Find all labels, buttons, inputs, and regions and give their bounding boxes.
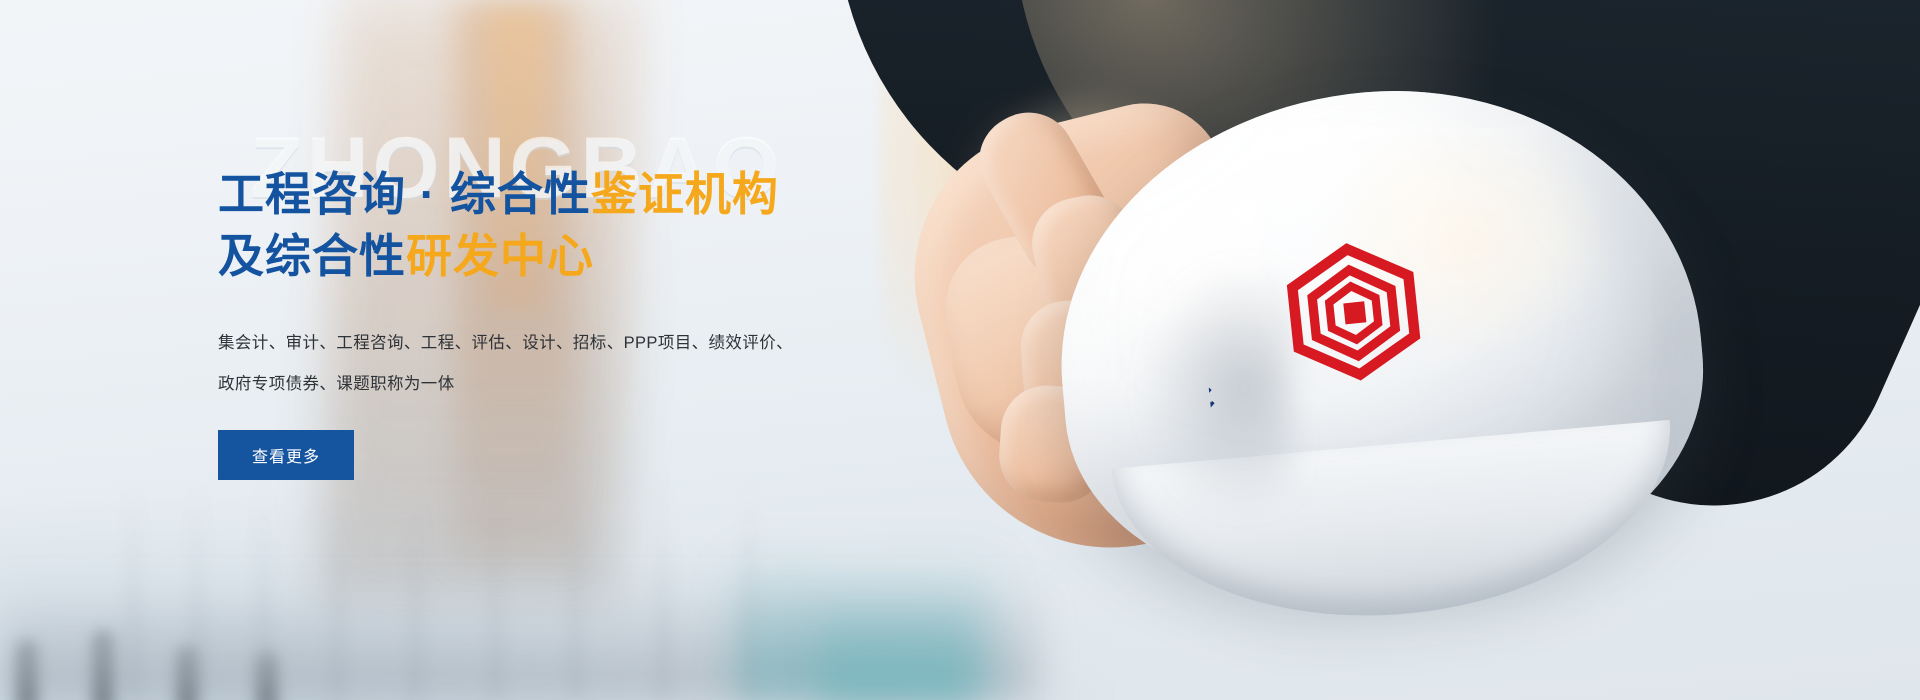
headline-line-1: 工程咨询 · 综合性鉴证机构 — [218, 164, 938, 226]
hero-content: ZHONGBAO 工程咨询 · 综合性鉴证机构 及综合性研发中心 集会计、审计、… — [218, 120, 938, 480]
hero-description: 集会计、审计、工程咨询、工程、评估、设计、招标、PPP项目、绩效评价、 政府专项… — [218, 323, 938, 404]
hexagon-emblem-icon — [1277, 235, 1431, 389]
headline-line-2-blue: 及综合性 — [218, 230, 406, 282]
headline-line-1-blue: 工程咨询 · 综合性 — [218, 168, 591, 220]
page-title: 工程咨询 · 综合性鉴证机构 及综合性研发中心 — [218, 164, 938, 287]
background-foreground-posts — [0, 590, 320, 700]
view-more-button[interactable]: 查看更多 — [218, 430, 354, 480]
headline-line-2: 及综合性研发中心 — [218, 226, 938, 288]
hero-banner: 中宝工程管理 ZHONGBAO 工程咨询 · 综合性鉴证机构 及综合性研发中心 … — [0, 0, 1920, 700]
headline-line-2-orange: 研发中心 — [406, 230, 594, 282]
hero-description-line-2: 政府专项债券、课题职称为一体 — [218, 364, 938, 404]
headline-line-1-orange: 鉴证机构 — [591, 168, 779, 220]
helmet-logo: 中宝工程管理 — [1185, 131, 1519, 500]
hero-description-line-1: 集会计、审计、工程咨询、工程、评估、设计、招标、PPP项目、绩效评价、 — [218, 323, 938, 363]
background-teal-panel-inner — [820, 604, 970, 700]
